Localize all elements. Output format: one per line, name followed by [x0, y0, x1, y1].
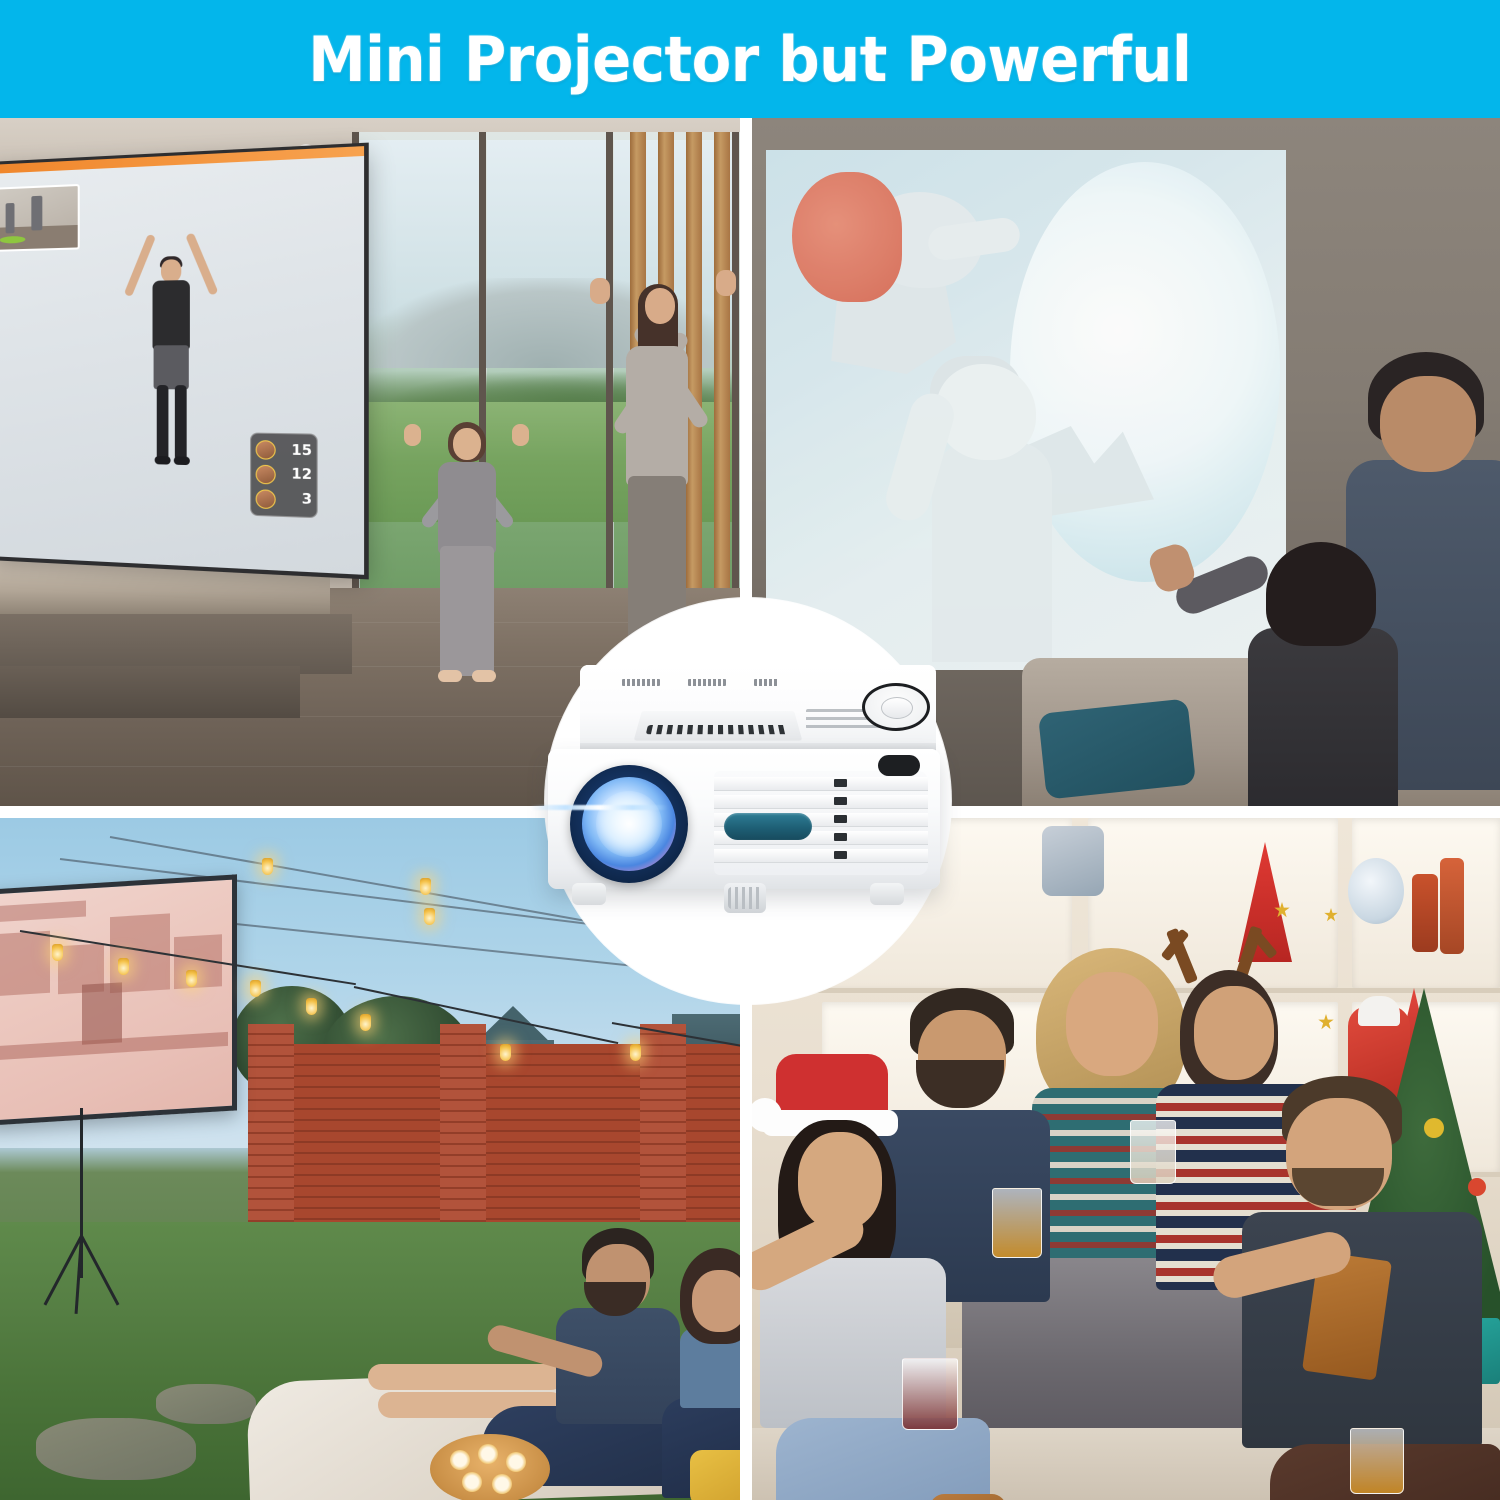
port-label-strip — [622, 679, 778, 686]
workout-leaderboard: 15 12 3 — [250, 433, 318, 519]
drink-glass — [1130, 1120, 1176, 1184]
string-light-bulb-icon — [630, 1044, 641, 1061]
vent-slat — [714, 777, 928, 790]
mini-projector-product — [548, 665, 952, 920]
product-collage-page: Mini Projector but Powerful — [0, 0, 1500, 1500]
wine-glass — [902, 1358, 958, 1430]
candle — [1412, 874, 1438, 952]
stone-step — [0, 614, 352, 674]
snack-tray — [430, 1434, 550, 1500]
string-light-bulb-icon — [52, 944, 63, 961]
control-dial-center[interactable] — [881, 697, 913, 719]
vent-notch — [834, 833, 847, 841]
port-label — [688, 679, 726, 686]
lens-glow — [596, 791, 662, 857]
speaker-accent — [724, 813, 812, 840]
teal-cushion — [1038, 698, 1196, 799]
lens-flare — [530, 805, 668, 810]
page-title: Mini Projector but Powerful — [308, 23, 1191, 96]
outdoor-projection-screen — [0, 874, 237, 1125]
leaderboard-score: 3 — [302, 492, 312, 509]
port-label — [754, 679, 778, 686]
string-light-bulb-icon — [118, 958, 129, 975]
projector-body — [548, 749, 940, 889]
stepping-stone — [156, 1384, 256, 1424]
avatar — [256, 465, 276, 485]
stepping-stone — [36, 1418, 196, 1480]
boot — [930, 1494, 1006, 1500]
ornament — [1348, 858, 1404, 924]
vent-notch — [834, 779, 847, 787]
man-pointing — [1222, 1076, 1500, 1500]
jeans — [776, 1418, 990, 1500]
string-light-bulb-icon — [424, 908, 435, 925]
leaderboard-score: 12 — [291, 467, 312, 484]
projector-top-panel — [580, 665, 936, 750]
projector-top-grille — [634, 711, 803, 741]
stone-step — [0, 666, 300, 718]
leaderboard-row: 15 — [256, 439, 312, 462]
vent-notch — [834, 815, 847, 823]
beer-glass — [1350, 1428, 1404, 1494]
header-banner: Mini Projector but Powerful — [0, 0, 1500, 118]
string-light-bulb-icon — [262, 858, 273, 875]
ir-receiver — [878, 755, 920, 776]
leaderboard-score: 15 — [291, 443, 312, 460]
string-light-bulb-icon — [250, 980, 261, 997]
yellow-pillow — [690, 1450, 740, 1500]
avatar — [256, 440, 276, 460]
string-light-bulb-icon — [500, 1044, 511, 1061]
candle — [1440, 858, 1464, 954]
vent-panel — [714, 771, 928, 875]
focus-adjust-screw[interactable] — [724, 883, 766, 913]
vent-slat — [714, 849, 928, 862]
vent-notch — [834, 851, 847, 859]
woman-in-santa-hat — [752, 1058, 1012, 1498]
vent-notch — [834, 797, 847, 805]
string-light-bulb-icon — [306, 998, 317, 1015]
leaderboard-row: 3 — [256, 488, 312, 511]
figurine — [1042, 826, 1104, 896]
projector-foot — [870, 883, 904, 905]
avatar — [256, 489, 276, 509]
projected-screen: 15 12 3 — [0, 147, 364, 575]
vent-slat — [714, 795, 928, 808]
child-exercising — [420, 418, 520, 718]
on-screen-trainer — [131, 218, 210, 482]
port-label — [622, 679, 660, 686]
picture-in-picture-thumbnail — [0, 184, 80, 252]
lens-barrel — [570, 765, 688, 883]
string-light-bulb-icon — [360, 1014, 371, 1031]
projection-character-redhair — [788, 162, 1038, 392]
control-dial[interactable] — [862, 683, 930, 731]
projector-foot — [572, 883, 606, 905]
string-light-bulb-icon — [420, 878, 431, 895]
string-light-bulb-icon — [186, 970, 197, 987]
younger-child — [1208, 518, 1428, 806]
leaderboard-row: 12 — [256, 464, 312, 487]
